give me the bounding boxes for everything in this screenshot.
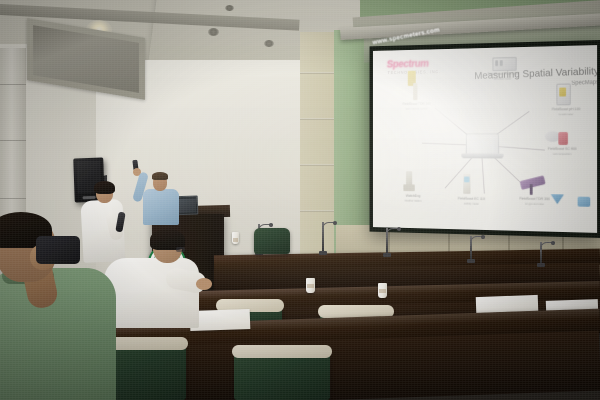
diagram-center-laptop-icon: [461, 133, 503, 162]
paper-cup: [378, 283, 387, 298]
projection-screen: Spectrum TECHNOLOGIES, INC. Measuring Sp…: [370, 40, 600, 238]
chair-back-row: [254, 228, 290, 254]
conference-room-photo: Spectrum TECHNOLOGIES, INC. Measuring Sp…: [0, 0, 600, 400]
booth-glass: [33, 25, 139, 93]
gooseneck-microphone: [322, 222, 336, 252]
presenter-torso: [143, 189, 179, 225]
presenter-hair: [152, 172, 168, 180]
speaker-badge: [83, 196, 96, 199]
diagram-chart-icon: [551, 194, 564, 204]
downlight-icon-4: [225, 5, 234, 11]
chair: [234, 350, 330, 400]
seated-attendee-torso: [104, 258, 199, 328]
gooseneck-microphone: [470, 236, 483, 260]
presentation-slide: Spectrum TECHNOLOGIES, INC. Measuring Sp…: [373, 45, 597, 233]
gooseneck-microphone: [540, 242, 552, 264]
seated-attendee-hand: [196, 278, 212, 290]
seated-attendee-glasses: [176, 247, 185, 252]
diagram-node: FieldScout TCM 500 turf color meter: [478, 55, 528, 56]
bag-on-bench: [36, 236, 80, 264]
downlight-icon-3: [264, 40, 274, 47]
paper-cup: [232, 232, 239, 244]
foreground-attendee-torso: [0, 268, 116, 400]
paper-cup: [306, 278, 315, 293]
slide-subtitle: SpecMaps: [480, 80, 598, 90]
diagram-map-icon: [578, 197, 591, 207]
chair-headrest: [232, 345, 332, 358]
gooseneck-microphone: [386, 228, 399, 254]
downlight-icon-2: [208, 28, 219, 36]
microphone-holder-hair: [94, 181, 115, 194]
spectrum-logo: Spectrum: [386, 58, 429, 70]
